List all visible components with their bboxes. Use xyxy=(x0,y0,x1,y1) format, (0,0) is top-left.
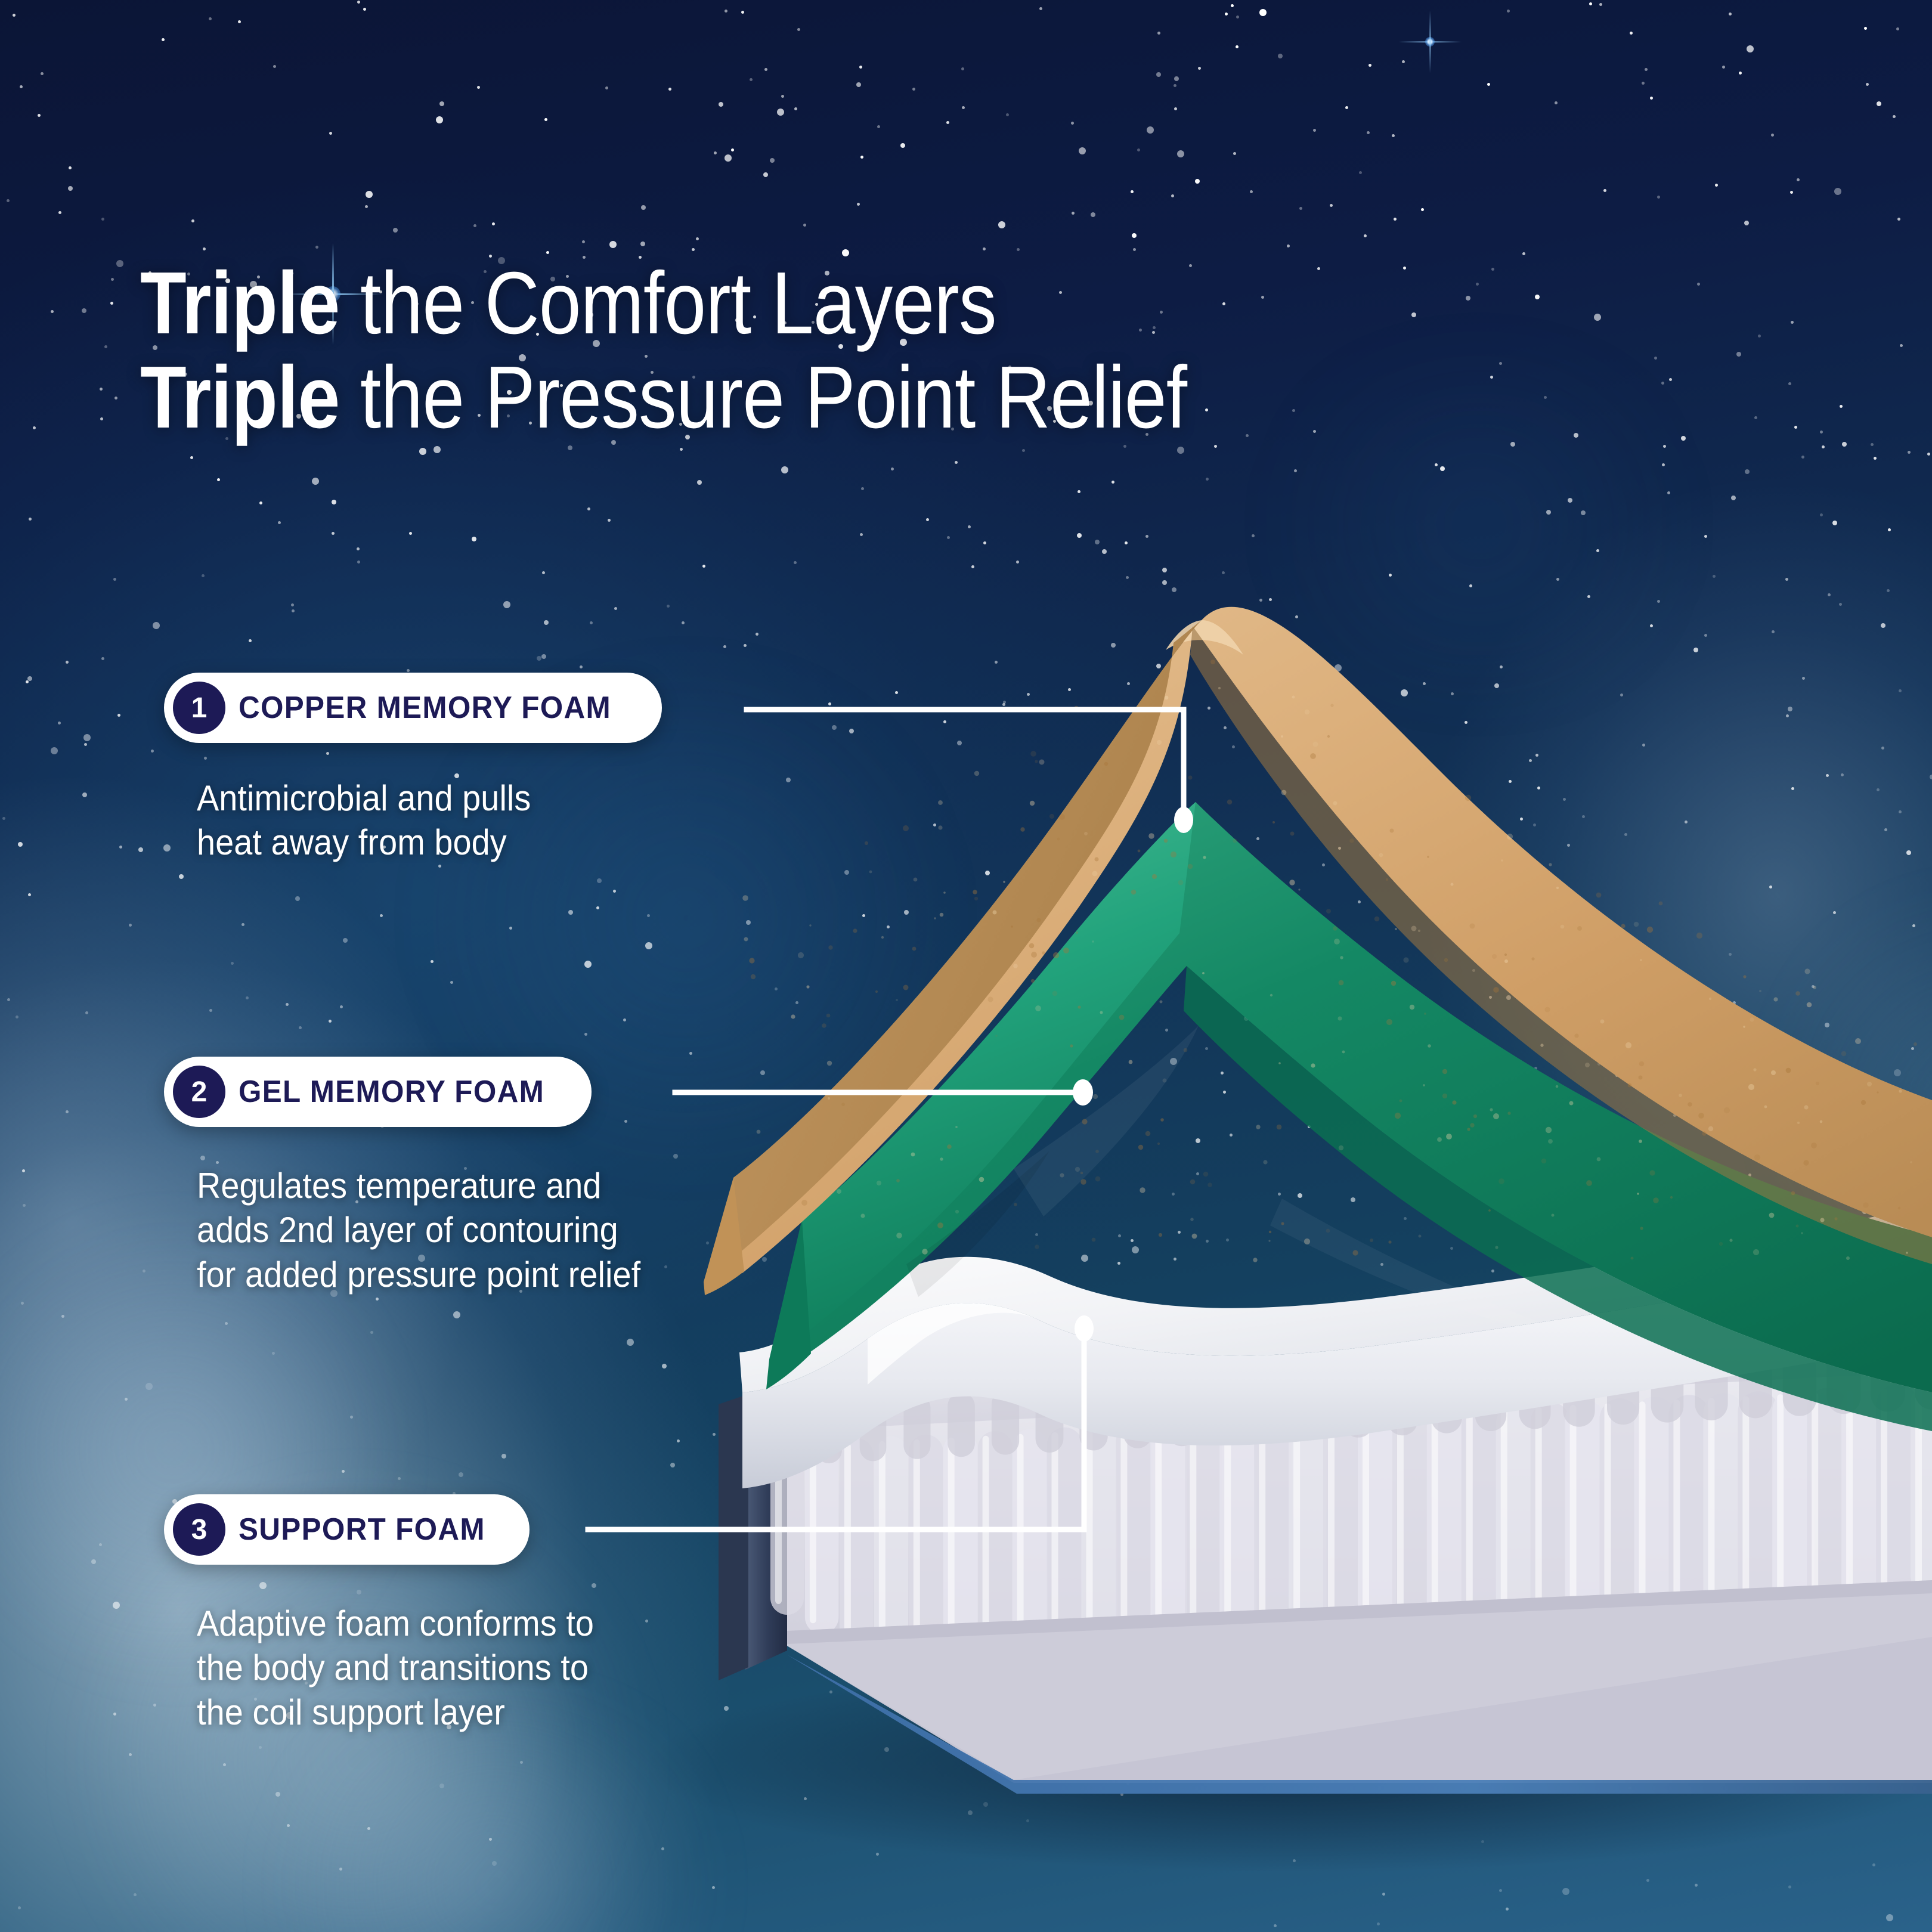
callout-description-3: Adaptive foam conforms to the body and t… xyxy=(197,1602,696,1735)
callout-title-2: GEL MEMORY FOAM xyxy=(239,1074,544,1110)
headline-line-2: Triple the Pressure Point Relief xyxy=(140,351,1422,445)
headline-line-2-rest: the Pressure Point Relief xyxy=(339,348,1187,447)
callout-number-badge-2: 2 xyxy=(173,1066,225,1118)
callout-pill-copper-memory-foam[interactable]: 1 COPPER MEMORY FOAM xyxy=(164,673,662,743)
callout-description-1: Antimicrobial and pulls heat away from b… xyxy=(197,776,696,865)
callout-number-badge-3: 3 xyxy=(173,1503,225,1556)
callout-title-3: SUPPORT FOAM xyxy=(239,1512,485,1547)
headline-line-1-strong: Triple xyxy=(140,254,339,352)
headline-line-1-rest: the Comfort Layers xyxy=(339,254,996,352)
callout-pill-gel-memory-foam[interactable]: 2 GEL MEMORY FOAM xyxy=(164,1057,592,1127)
callout-title-1: COPPER MEMORY FOAM xyxy=(239,690,611,726)
page-title: Triple the Comfort Layers Triple the Pre… xyxy=(140,256,1422,445)
infographic-canvas: Triple the Comfort Layers Triple the Pre… xyxy=(0,0,1932,1932)
callout-pill-support-foam[interactable]: 3 SUPPORT FOAM xyxy=(164,1494,530,1565)
callout-number-badge-1: 1 xyxy=(173,682,225,734)
callout-description-2: Regulates temperature and adds 2nd layer… xyxy=(197,1164,740,1297)
headline-line-1: Triple the Comfort Layers xyxy=(140,256,1422,351)
headline-line-2-strong: Triple xyxy=(140,348,339,447)
